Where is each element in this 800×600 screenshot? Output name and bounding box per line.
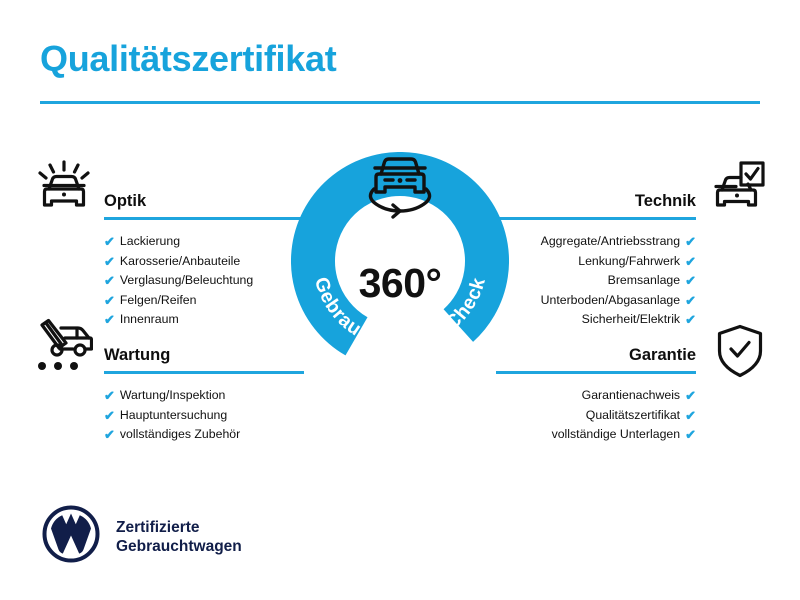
list-item-label: Lackierung bbox=[120, 232, 180, 252]
list-item: ✔ Verglasung/Beleuchtung bbox=[104, 271, 304, 291]
check-icon: ✔ bbox=[685, 294, 696, 307]
section-wartung-list: ✔ Wartung/Inspektion ✔ Hauptuntersuchung… bbox=[104, 386, 304, 445]
list-item: Sicherheit/Elektrik ✔ bbox=[496, 310, 696, 330]
vw-wordmark-line1: Zertifizierte bbox=[116, 519, 200, 536]
list-item-label: Bremsanlage bbox=[608, 271, 680, 291]
section-optik-title: Optik bbox=[104, 192, 146, 211]
list-item: Unterboden/Abgasanlage ✔ bbox=[496, 291, 696, 311]
list-item: ✔ Felgen/Reifen bbox=[104, 291, 304, 311]
page-title: Qualitätszertifikat bbox=[40, 38, 336, 80]
check-icon: ✔ bbox=[685, 313, 696, 326]
check-icon: ✔ bbox=[685, 409, 696, 422]
qualitaetszertifikat-page: Qualitätszertifikat bbox=[0, 0, 800, 600]
title-divider bbox=[40, 101, 760, 104]
360-check-badge: Gebrauchtwagen-Check 360° bbox=[291, 152, 509, 370]
list-item-label: vollständiges Zubehör bbox=[120, 425, 240, 445]
list-item: Lenkung/Fahrwerk ✔ bbox=[496, 252, 696, 272]
section-garantie-divider bbox=[496, 371, 696, 374]
check-icon: ✔ bbox=[685, 389, 696, 402]
section-wartung-divider bbox=[104, 371, 304, 374]
list-item-label: vollständige Unterlagen bbox=[552, 425, 681, 445]
vw-logo bbox=[42, 505, 100, 568]
list-item-label: Lenkung/Fahrwerk bbox=[578, 252, 680, 272]
list-item: Garantienachweis ✔ bbox=[496, 386, 696, 406]
section-garantie-list: Garantienachweis ✔ Qualitätszertifikat ✔… bbox=[496, 386, 696, 445]
check-icon: ✔ bbox=[104, 313, 115, 326]
section-optik-list: ✔ Lackierung ✔ Karosserie/Anbauteile ✔ V… bbox=[104, 232, 304, 330]
list-item: vollständige Unterlagen ✔ bbox=[496, 425, 696, 445]
car-rotate-icon bbox=[360, 146, 440, 224]
list-item-label: Innenraum bbox=[120, 310, 179, 330]
list-item-label: Karosserie/Anbauteile bbox=[120, 252, 240, 272]
list-item: ✔ Hauptuntersuchung bbox=[104, 406, 304, 426]
vw-wordmark-line2: Gebrauchtwagen bbox=[116, 538, 242, 555]
car-shine-icon bbox=[36, 160, 92, 221]
section-wartung: Wartung ✔ Wartung/Inspektion ✔ Hauptunte… bbox=[104, 340, 304, 445]
shield-check-icon bbox=[716, 324, 764, 383]
list-item-label: Unterboden/Abgasanlage bbox=[541, 291, 680, 311]
list-item-label: Qualitätszertifikat bbox=[586, 406, 680, 426]
list-item: Bremsanlage ✔ bbox=[496, 271, 696, 291]
list-item: Aggregate/Antriebsstrang ✔ bbox=[496, 232, 696, 252]
section-technik-list: Aggregate/Antriebsstrang ✔ Lenkung/Fahrw… bbox=[496, 232, 696, 330]
check-icon: ✔ bbox=[685, 274, 696, 287]
check-icon: ✔ bbox=[104, 294, 115, 307]
check-icon: ✔ bbox=[104, 274, 115, 287]
check-icon: ✔ bbox=[104, 389, 115, 402]
section-technik-title: Technik bbox=[635, 192, 696, 211]
list-item: ✔ Karosserie/Anbauteile bbox=[104, 252, 304, 272]
check-icon: ✔ bbox=[104, 428, 115, 441]
check-icon: ✔ bbox=[685, 255, 696, 268]
section-optik: Optik ✔ Lackierung ✔ Karosserie/Anbautei… bbox=[104, 186, 304, 330]
list-item-label: Wartung/Inspektion bbox=[120, 386, 226, 406]
check-icon: ✔ bbox=[104, 255, 115, 268]
list-item: Qualitätszertifikat ✔ bbox=[496, 406, 696, 426]
list-item: ✔ Innenraum bbox=[104, 310, 304, 330]
section-wartung-header: Wartung bbox=[104, 340, 304, 374]
list-item-label: Verglasung/Beleuchtung bbox=[120, 271, 253, 291]
section-technik: Technik Aggregate/Antriebsstrang ✔ Lenku… bbox=[496, 186, 696, 330]
car-service-pen-icon bbox=[33, 318, 93, 381]
badge-degrees: 360° bbox=[291, 260, 509, 307]
section-wartung-title: Wartung bbox=[104, 346, 170, 365]
list-item: ✔ vollständiges Zubehör bbox=[104, 425, 304, 445]
section-technik-header: Technik bbox=[496, 186, 696, 220]
list-item-label: Felgen/Reifen bbox=[120, 291, 197, 311]
list-item-label: Hauptuntersuchung bbox=[120, 406, 227, 426]
section-technik-divider bbox=[496, 217, 696, 220]
check-icon: ✔ bbox=[104, 409, 115, 422]
section-garantie-title: Garantie bbox=[629, 346, 696, 365]
section-garantie-header: Garantie bbox=[496, 340, 696, 374]
section-optik-header: Optik bbox=[104, 186, 304, 220]
list-item-label: Sicherheit/Elektrik bbox=[582, 310, 680, 330]
section-optik-divider bbox=[104, 217, 304, 220]
list-item-label: Garantienachweis bbox=[582, 386, 680, 406]
section-garantie: Garantie Garantienachweis ✔ Qualitätszer… bbox=[496, 340, 696, 445]
check-icon: ✔ bbox=[104, 235, 115, 248]
car-checkbox-icon bbox=[710, 160, 766, 221]
list-item-label: Aggregate/Antriebsstrang bbox=[541, 232, 680, 252]
list-item: ✔ Wartung/Inspektion bbox=[104, 386, 304, 406]
list-item: ✔ Lackierung bbox=[104, 232, 304, 252]
vw-footer: Zertifizierte Gebrauchtwagen bbox=[42, 505, 242, 568]
vw-wordmark: Zertifizierte Gebrauchtwagen bbox=[116, 518, 242, 556]
check-icon: ✔ bbox=[685, 235, 696, 248]
check-icon: ✔ bbox=[685, 428, 696, 441]
